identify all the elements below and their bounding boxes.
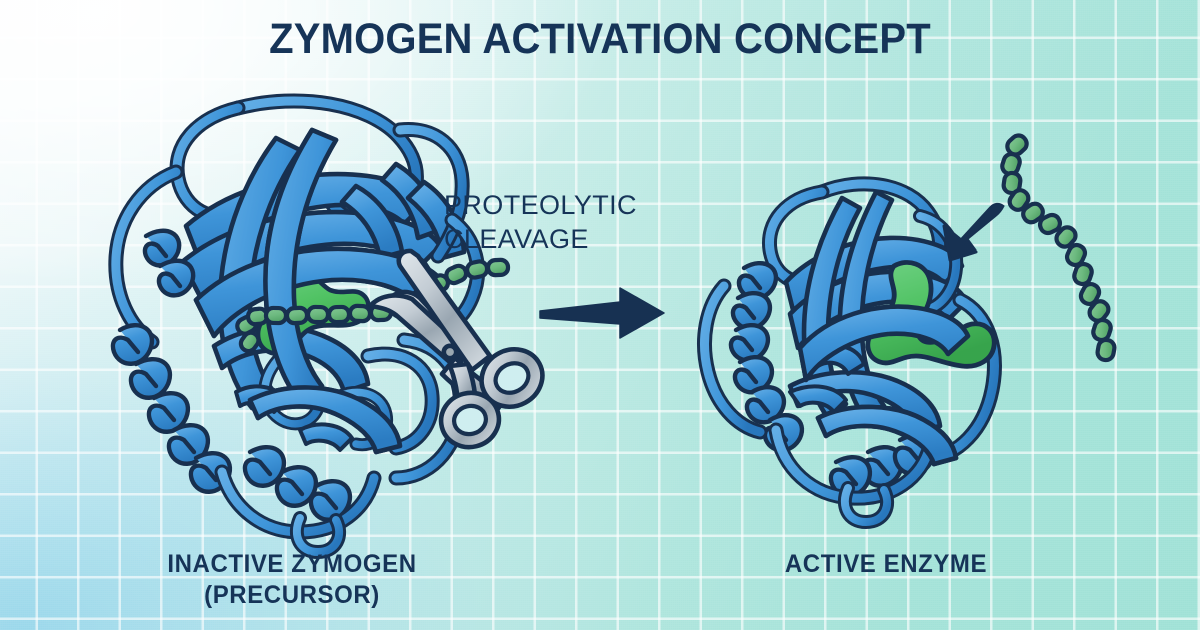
caption-active-enzyme: ACTIVE ENZYME [740, 549, 1032, 580]
right-arrow-icon [540, 288, 664, 338]
release-arrow-icon [944, 203, 1004, 260]
proteolytic-cleavage-label: PROTEOLYTIC CLEAVAGE [444, 188, 704, 256]
zymogen-activation-infographic: ZYMOGEN ACTIVATION CONCEPT PROTEOLYTIC C… [0, 0, 1200, 630]
alpha-helix-upper-left [145, 231, 193, 296]
caption-right-line-1: ACTIVE ENZYME [785, 550, 987, 578]
caption-inactive-zymogen: INACTIVE ZYMOGEN (PRECURSOR) [123, 549, 461, 611]
caption-left-line-2: (PRECURSOR) [123, 580, 461, 611]
caption-left-line-1: INACTIVE ZYMOGEN [167, 550, 416, 578]
cleavage-line-2: CLEAVAGE [444, 224, 589, 254]
page-title: ZYMOGEN ACTIVATION CONCEPT [42, 14, 1158, 64]
released-peptide-bead-chain-icon [1000, 132, 1115, 361]
alpha-helix-bottom [245, 447, 350, 520]
diagram-artwork [0, 0, 1200, 630]
cleavage-line-1: PROTEOLYTIC [444, 190, 637, 220]
alpha-helix-left [113, 325, 230, 492]
